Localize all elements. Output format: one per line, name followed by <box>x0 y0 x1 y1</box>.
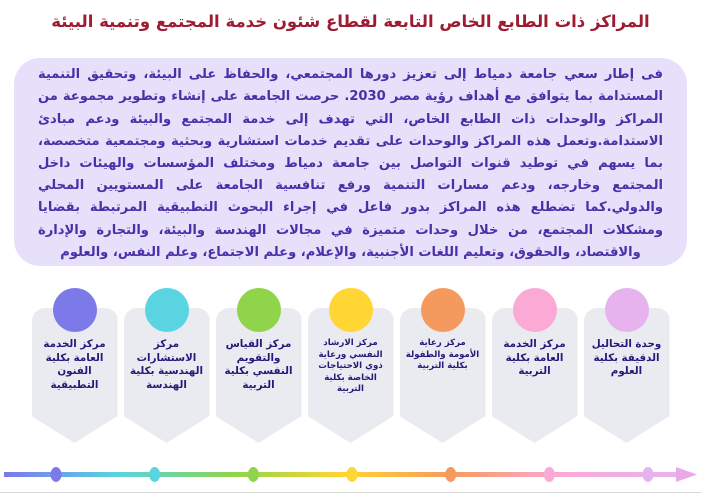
center-card-label: مركز الخدمة العامة بكلية الفنون التطبيقي… <box>35 338 115 392</box>
center-card-circle-icon <box>329 288 373 332</box>
center-card-label: وحدة التحاليل الدقيقة بكلية العلوم <box>587 338 667 379</box>
center-card[interactable]: مركز رعاية الأمومة والطفولة بكلية التربي… <box>400 288 486 443</box>
timeline-line <box>4 472 680 477</box>
timeline-arrow <box>0 462 701 488</box>
title-bar: المراكز ذات الطابع الخاص التابعة لقطاع ش… <box>0 0 701 33</box>
centers-card-row: مركز الخدمة العامة بكلية الفنون التطبيقي… <box>0 288 701 448</box>
intro-paragraph: فى إطار سعي جامعة دمياط إلى تعزيز دورها … <box>38 64 663 264</box>
footer-divider <box>0 492 701 493</box>
center-card[interactable]: وحدة التحاليل الدقيقة بكلية العلوم <box>584 288 670 443</box>
center-card-label: مركز الارشاد النفسي ورعاية ذوي الاحتياجا… <box>311 338 391 396</box>
timeline-arrowhead <box>676 467 697 482</box>
center-card-circle-icon <box>513 288 557 332</box>
center-card[interactable]: مركز الارشاد النفسي ورعاية ذوي الاحتياجا… <box>308 288 394 443</box>
timeline-dot <box>248 467 259 482</box>
center-card-label: مركز الاستشارات الهندسية بكلية الهندسة <box>127 338 207 392</box>
center-card[interactable]: مركز الخدمة العامة بكلية التربية <box>492 288 578 443</box>
center-card[interactable]: مركز القياس والتقويم النفسي بكلية التربي… <box>216 288 302 443</box>
page-title: المراكز ذات الطابع الخاص التابعة لقطاع ش… <box>0 11 701 33</box>
timeline-dot <box>149 467 160 482</box>
center-card-circle-icon <box>421 288 465 332</box>
center-card-label: مركز رعاية الأمومة والطفولة بكلية التربي… <box>403 338 483 373</box>
center-card[interactable]: مركز الخدمة العامة بكلية الفنون التطبيقي… <box>32 288 118 443</box>
timeline-dot <box>445 467 456 482</box>
intro-panel: فى إطار سعي جامعة دمياط إلى تعزيز دورها … <box>14 58 687 266</box>
timeline-dot <box>51 467 62 482</box>
center-card-circle-icon <box>53 288 97 332</box>
center-card[interactable]: مركز الاستشارات الهندسية بكلية الهندسة <box>124 288 210 443</box>
center-card-circle-icon <box>237 288 281 332</box>
timeline-dot <box>347 467 358 482</box>
center-card-circle-icon <box>145 288 189 332</box>
center-card-label: مركز القياس والتقويم النفسي بكلية التربي… <box>219 338 299 392</box>
timeline-dot <box>643 467 654 482</box>
center-card-label: مركز الخدمة العامة بكلية التربية <box>495 338 575 379</box>
timeline-dot <box>544 467 555 482</box>
center-card-circle-icon <box>605 288 649 332</box>
